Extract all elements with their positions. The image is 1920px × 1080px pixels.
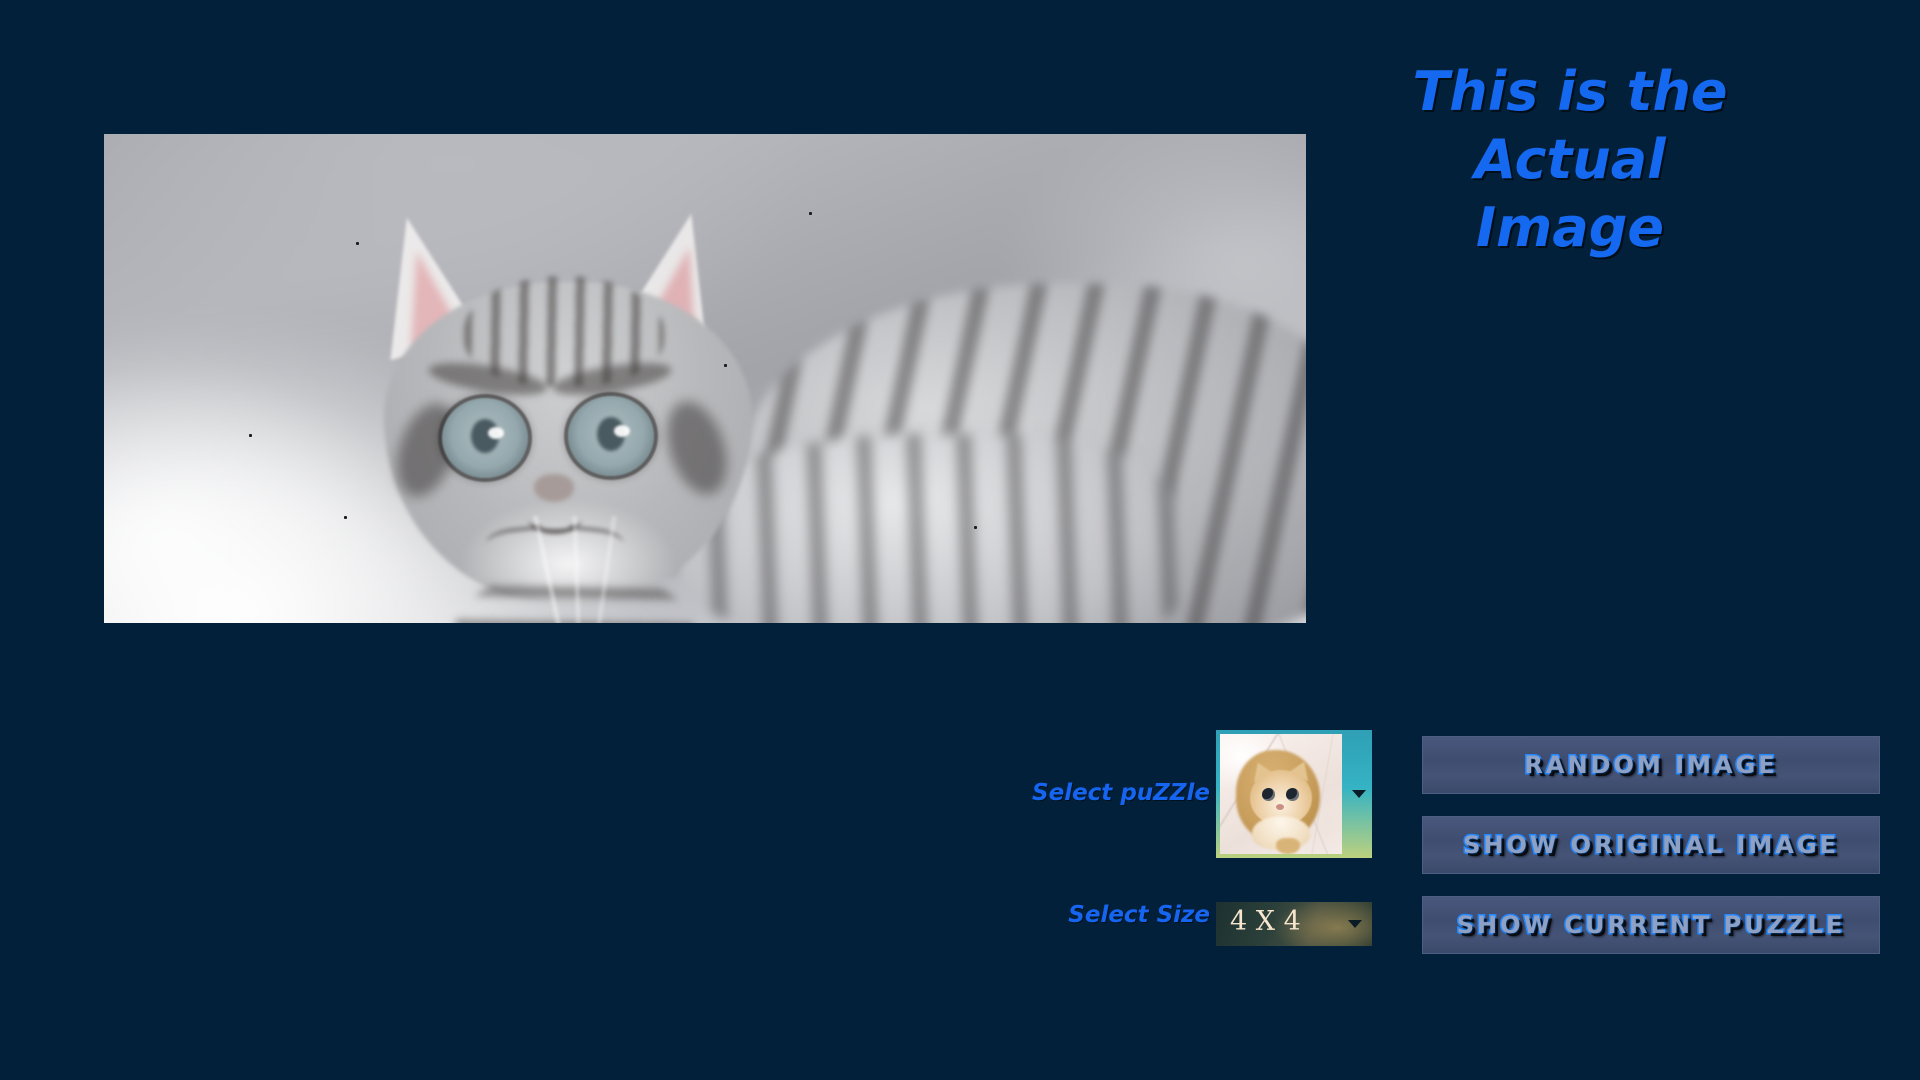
chevron-down-icon[interactable] (1348, 920, 1362, 928)
photo-speck (724, 364, 727, 367)
actual-image-canvas (104, 134, 1306, 623)
page-title: This is the Actual Image (1335, 58, 1805, 262)
thumbnail-cat-nose (1276, 804, 1284, 810)
actual-image (104, 134, 1306, 623)
page-title-line-1: This is the Actual (1335, 58, 1805, 194)
show-current-puzzle-button[interactable]: SHOW CURRENT PUZZLE (1422, 896, 1880, 954)
kitten-eye-glint-right (614, 425, 630, 437)
chevron-down-icon[interactable] (1352, 790, 1366, 798)
select-puzzle-label: Select puZZle (900, 780, 1210, 806)
kitten-whiskers (376, 516, 756, 623)
kitten-eye-left (442, 398, 528, 478)
select-size-value: 4 X 4 (1230, 906, 1301, 937)
select-puzzle-thumbnail[interactable] (1220, 734, 1342, 854)
thumbnail-cat-eye-left (1262, 788, 1275, 801)
show-original-image-button-label: SHOW ORIGINAL IMAGE (1463, 831, 1839, 859)
page-title-line-2: Image (1335, 194, 1805, 262)
photo-speck (809, 212, 812, 215)
photo-speck (344, 516, 347, 519)
photo-speck (249, 434, 252, 437)
thumbnail-cat-eye-right (1286, 788, 1299, 801)
photo-speck (356, 242, 359, 245)
kitten-eye-right (568, 396, 654, 476)
kitten-nose (534, 474, 574, 502)
kitten-eye-glint-left (488, 427, 504, 439)
select-size-dropdown[interactable]: 4 X 4 (1216, 902, 1372, 946)
show-current-puzzle-button-label: SHOW CURRENT PUZZLE (1457, 911, 1845, 939)
thumbnail-cat-paw (1276, 838, 1300, 854)
show-original-image-button[interactable]: SHOW ORIGINAL IMAGE (1422, 816, 1880, 874)
select-size-label: Select Size (900, 902, 1210, 928)
kitten-head (356, 216, 776, 606)
random-image-button[interactable]: RANDOM IMAGE (1422, 736, 1880, 794)
photo-speck (974, 526, 977, 529)
select-puzzle-dropdown[interactable] (1216, 730, 1372, 858)
random-image-button-label: RANDOM IMAGE (1524, 751, 1777, 779)
